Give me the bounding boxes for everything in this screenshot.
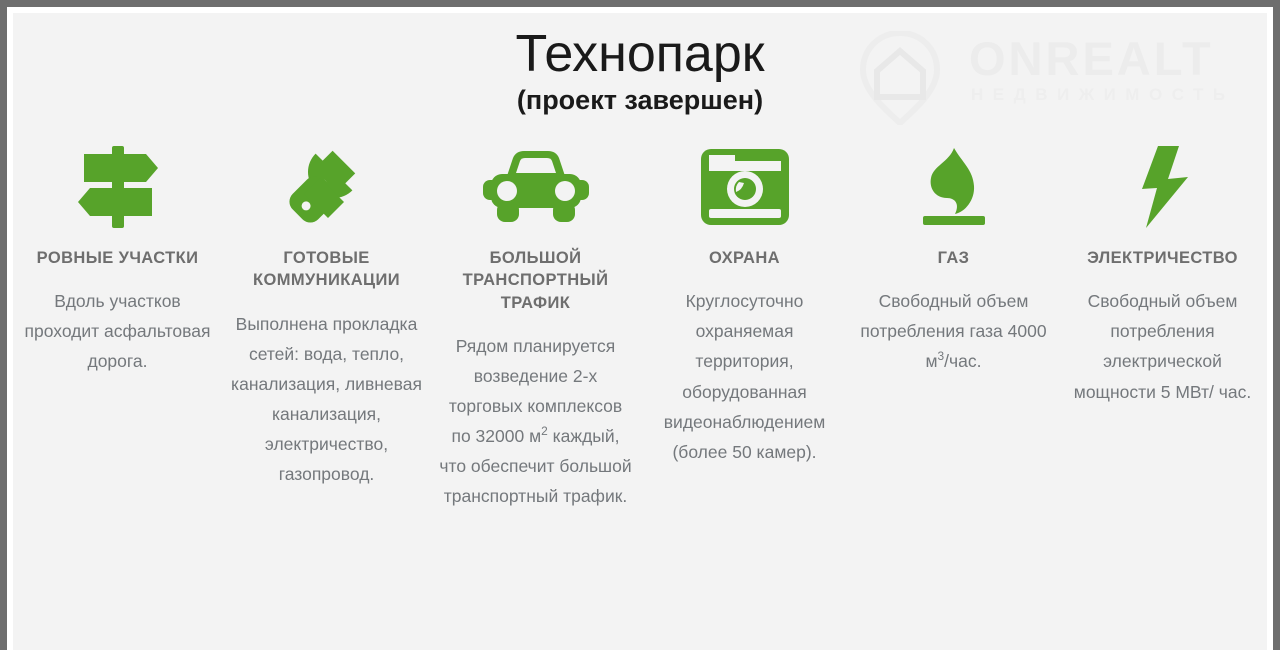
feature-column-plots: РОВНЫЕ УЧАСТКИ Вдоль участков проходит а… [13,143,222,377]
feature-column-electricity: ЭЛЕКТРИЧЕСТВО Свободный объем потреблени… [1058,143,1267,407]
feature-body: Свободный объем потребления электрическо… [1064,286,1261,406]
feature-body: Круглосуточно охраняемая территория, обо… [646,286,843,467]
feature-heading: ГОТОВЫЕ КОММУНИКАЦИИ [228,247,425,292]
gas-flame-icon [855,143,1052,231]
feature-body: Вдоль участков проходит асфальтовая доро… [19,286,216,376]
feature-body: Рядом планируется возведение 2-х торговы… [437,331,634,512]
feature-heading: ГАЗ [855,247,1052,269]
feature-heading: РОВНЫЕ УЧАСТКИ [19,247,216,269]
header: Технопарк (проект завершен) [13,27,1267,115]
car-icon [437,143,634,231]
feature-column-security: ОХРАНА Круглосуточно охраняемая территор… [640,143,849,467]
frame-inner-gap-right [1267,7,1273,650]
feature-column-traffic: БОЛЬШОЙ ТРАНСПОРТНЫЙ ТРАФИК Рядом планир… [431,143,640,511]
frame-border-right [1273,0,1280,650]
feature-heading: БОЛЬШОЙ ТРАНСПОРТНЫЙ ТРАФИК [437,247,634,314]
frame-border-top [0,0,1280,7]
camera-icon [646,143,843,231]
feature-body: Свободный объем потребления газа 4000 м3… [855,286,1052,376]
feature-heading: ОХРАНА [646,247,843,269]
signpost-icon [19,143,216,231]
wrench-icon [228,143,425,231]
infographic-canvas: ONREALT НЕДВИЖИМОСТЬ Технопарк (проект з… [13,13,1267,650]
feature-body-superscript: 2 [541,424,548,438]
screenshot-root: ONREALT НЕДВИЖИМОСТЬ Технопарк (проект з… [0,0,1280,650]
page-title: Технопарк [13,27,1267,82]
lightning-bolt-icon [1064,143,1261,231]
feature-column-gas: ГАЗ Свободный объем потребления газа 400… [849,143,1058,377]
feature-columns: РОВНЫЕ УЧАСТКИ Вдоль участков проходит а… [13,143,1267,511]
feature-column-utilities: ГОТОВЫЕ КОММУНИКАЦИИ Выполнена прокладка… [222,143,431,489]
feature-body-text-tail: /час. [944,351,981,371]
feature-heading: ЭЛЕКТРИЧЕСТВО [1064,247,1261,269]
frame-border-left [0,0,7,650]
page-subtitle: (проект завершен) [13,86,1267,116]
feature-body: Выполнена прокладка сетей: вода, тепло, … [228,309,425,490]
